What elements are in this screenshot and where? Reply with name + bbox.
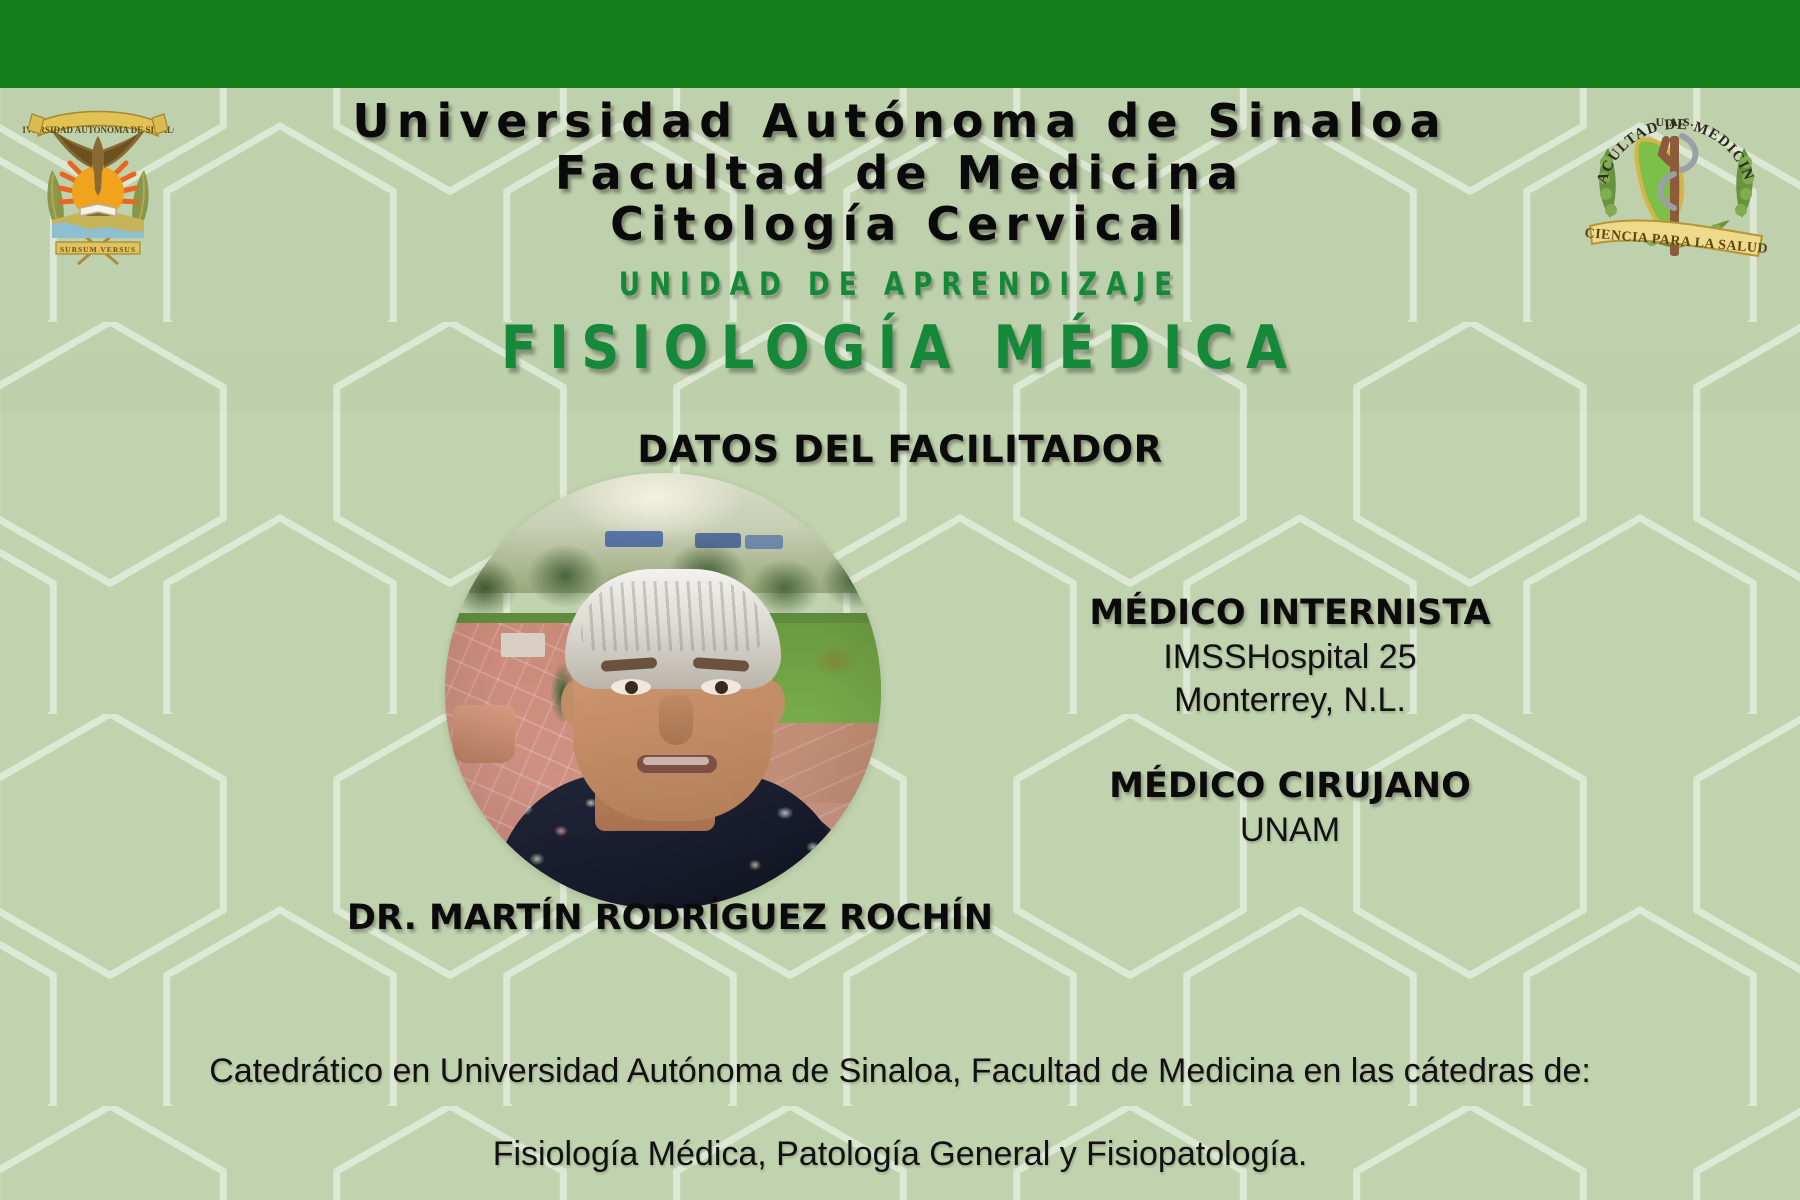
learning-unit-title: FISIOLOGÍA MÉDICA [108,313,1692,383]
credential-spacer [940,723,1640,765]
credential-line1: IMSSHospital 25 [940,636,1640,680]
credential-title: MÉDICO CIRUJANO [940,765,1640,809]
header-title-block: Universidad Autónoma de Sinaloa Facultad… [0,96,1800,383]
bio-line-2: Fisiología Médica, Patología General y F… [0,1135,1800,1174]
facilitator-bio: Catedrático en Universidad Autónoma de S… [0,1052,1800,1174]
university-name: Universidad Autónoma de Sinaloa [0,96,1800,148]
slide-root: UNIVERSIDAD AUTONOMA DE SINALOA SURSUM V… [0,0,1800,1200]
credential-block: MÉDICO CIRUJANO UNAM [940,765,1640,852]
facilitator-name: DR. MARTÍN RODRÍGUEZ ROCHÍN [270,898,1070,938]
facilitator-section-label: DATOS DEL FACILITADOR [0,428,1800,471]
course-topic: Citología Cervical [0,199,1800,251]
credential-line2: Monterrey, N.L. [940,679,1640,723]
learning-unit-kicker: UNIDAD DE APRENDIZAJE [162,265,1638,303]
credential-block: MÉDICO INTERNISTA IMSSHospital 25 Monter… [940,592,1640,723]
credential-title: MÉDICO INTERNISTA [940,592,1640,636]
facilitator-avatar [445,473,881,909]
bio-line-1: Catedrático en Universidad Autónoma de S… [0,1052,1800,1091]
faculty-name: Facultad de Medicina [0,148,1800,200]
credential-line1: UNAM [940,809,1640,853]
facilitator-credentials: MÉDICO INTERNISTA IMSSHospital 25 Monter… [940,592,1640,852]
top-green-bar [0,0,1800,88]
